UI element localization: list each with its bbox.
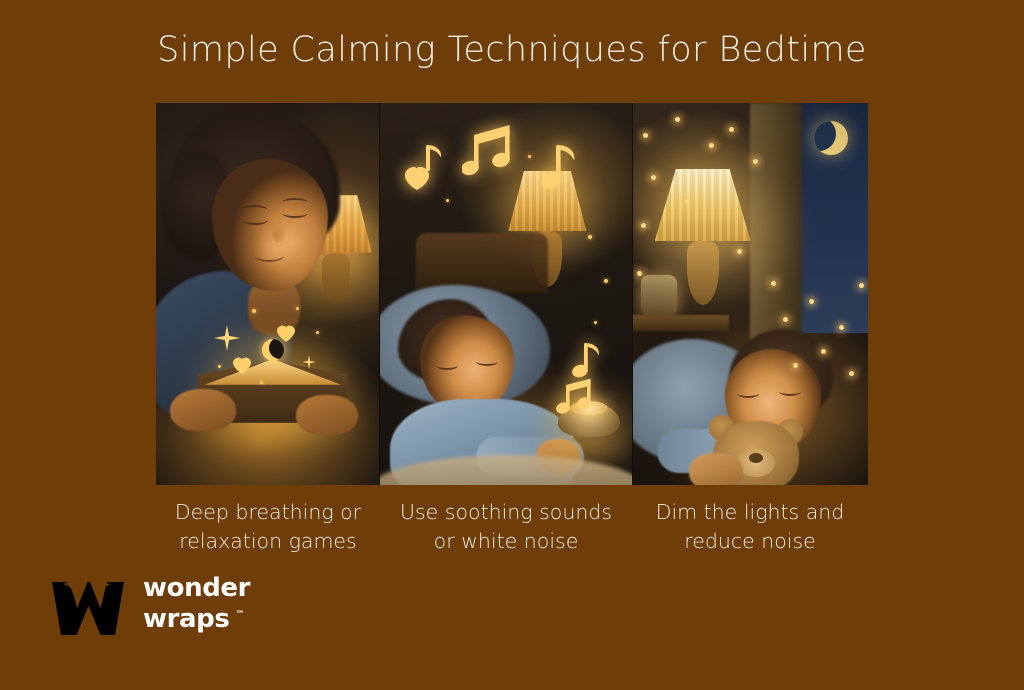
fairy-light bbox=[737, 249, 742, 254]
child-eye-right bbox=[779, 387, 801, 396]
fairy-light bbox=[771, 281, 776, 286]
caption-line: or white noise bbox=[380, 527, 632, 556]
brand-line-2: wraps bbox=[143, 606, 229, 633]
caption-dim-lights: Dim the lights and reduce noise bbox=[632, 498, 868, 556]
mother-hand-right bbox=[296, 395, 358, 435]
mother-eye-right bbox=[282, 208, 308, 218]
glow-dot bbox=[296, 307, 299, 310]
fairy-light bbox=[849, 371, 854, 376]
eighth-note-icon bbox=[538, 139, 580, 195]
candle-jar bbox=[641, 275, 677, 317]
crescent-moon-icon bbox=[262, 339, 284, 361]
fairy-light bbox=[859, 283, 864, 288]
fairy-light bbox=[637, 271, 642, 276]
wonder-wraps-w-icon bbox=[50, 573, 126, 635]
caption-soothing-sounds: Use soothing sounds or white noise bbox=[380, 498, 632, 556]
glow-dot bbox=[252, 309, 256, 313]
panel-soothing-sounds bbox=[379, 103, 631, 485]
fairy-light bbox=[783, 317, 788, 322]
teddy-nose bbox=[749, 453, 763, 463]
beamed-note-icon bbox=[556, 375, 598, 417]
fairy-light bbox=[753, 159, 758, 164]
page-title: Simple Calming Techniques for Bedtime bbox=[0, 30, 1024, 70]
mother-hand-left bbox=[170, 389, 236, 431]
bed-headboard bbox=[416, 233, 548, 293]
nightstand bbox=[632, 315, 729, 331]
fairy-light bbox=[821, 349, 826, 354]
mother-nose bbox=[272, 225, 285, 243]
trademark-symbol: ™ bbox=[235, 602, 244, 633]
glow-dot bbox=[316, 331, 319, 334]
mother-smile bbox=[254, 249, 284, 262]
caption-line: Dim the lights and bbox=[632, 498, 868, 527]
fairy-light bbox=[839, 325, 844, 330]
fairy-light bbox=[793, 363, 798, 368]
caption-line: relaxation games bbox=[156, 527, 380, 556]
caption-deep-breathing: Deep breathing or relaxation games bbox=[156, 498, 380, 556]
fairy-light bbox=[675, 117, 680, 122]
glow-dot bbox=[260, 381, 263, 384]
caption-line: reduce noise bbox=[632, 527, 868, 556]
fairy-light bbox=[643, 133, 648, 138]
crescent-moon-icon bbox=[814, 121, 848, 155]
brand-logo: wonder wraps ™ bbox=[50, 573, 250, 635]
caption-row: Deep breathing or relaxation games Use s… bbox=[156, 498, 868, 556]
glow-dot bbox=[594, 321, 597, 324]
glow-dot bbox=[446, 199, 449, 202]
panel-deep-breathing bbox=[156, 103, 379, 485]
glow-dot bbox=[604, 279, 608, 283]
fairy-light bbox=[641, 223, 646, 228]
fairy-light bbox=[729, 127, 734, 132]
brand-wordmark: wonder wraps ™ bbox=[143, 575, 250, 633]
child-hand bbox=[689, 453, 743, 485]
mother-brow-left bbox=[241, 205, 267, 214]
mother-brow-right bbox=[282, 198, 308, 207]
fairy-light bbox=[685, 199, 690, 204]
caption-line: Deep breathing or bbox=[156, 498, 380, 527]
caption-line: Use soothing sounds bbox=[380, 498, 632, 527]
fairy-light bbox=[709, 143, 714, 148]
panel-dim-lights bbox=[632, 103, 868, 485]
heart-note-icon bbox=[404, 141, 448, 191]
fairy-light bbox=[651, 175, 656, 180]
child-eye-left bbox=[737, 389, 759, 398]
beamed-note-icon bbox=[462, 121, 520, 181]
illustration-strip bbox=[156, 103, 868, 485]
poster-root: Simple Calming Techniques for Bedtime bbox=[0, 0, 1024, 690]
glow-dot bbox=[218, 365, 221, 368]
fairy-light bbox=[809, 299, 814, 304]
brand-line-1: wonder bbox=[143, 575, 250, 602]
mother-eye-left bbox=[242, 215, 268, 225]
